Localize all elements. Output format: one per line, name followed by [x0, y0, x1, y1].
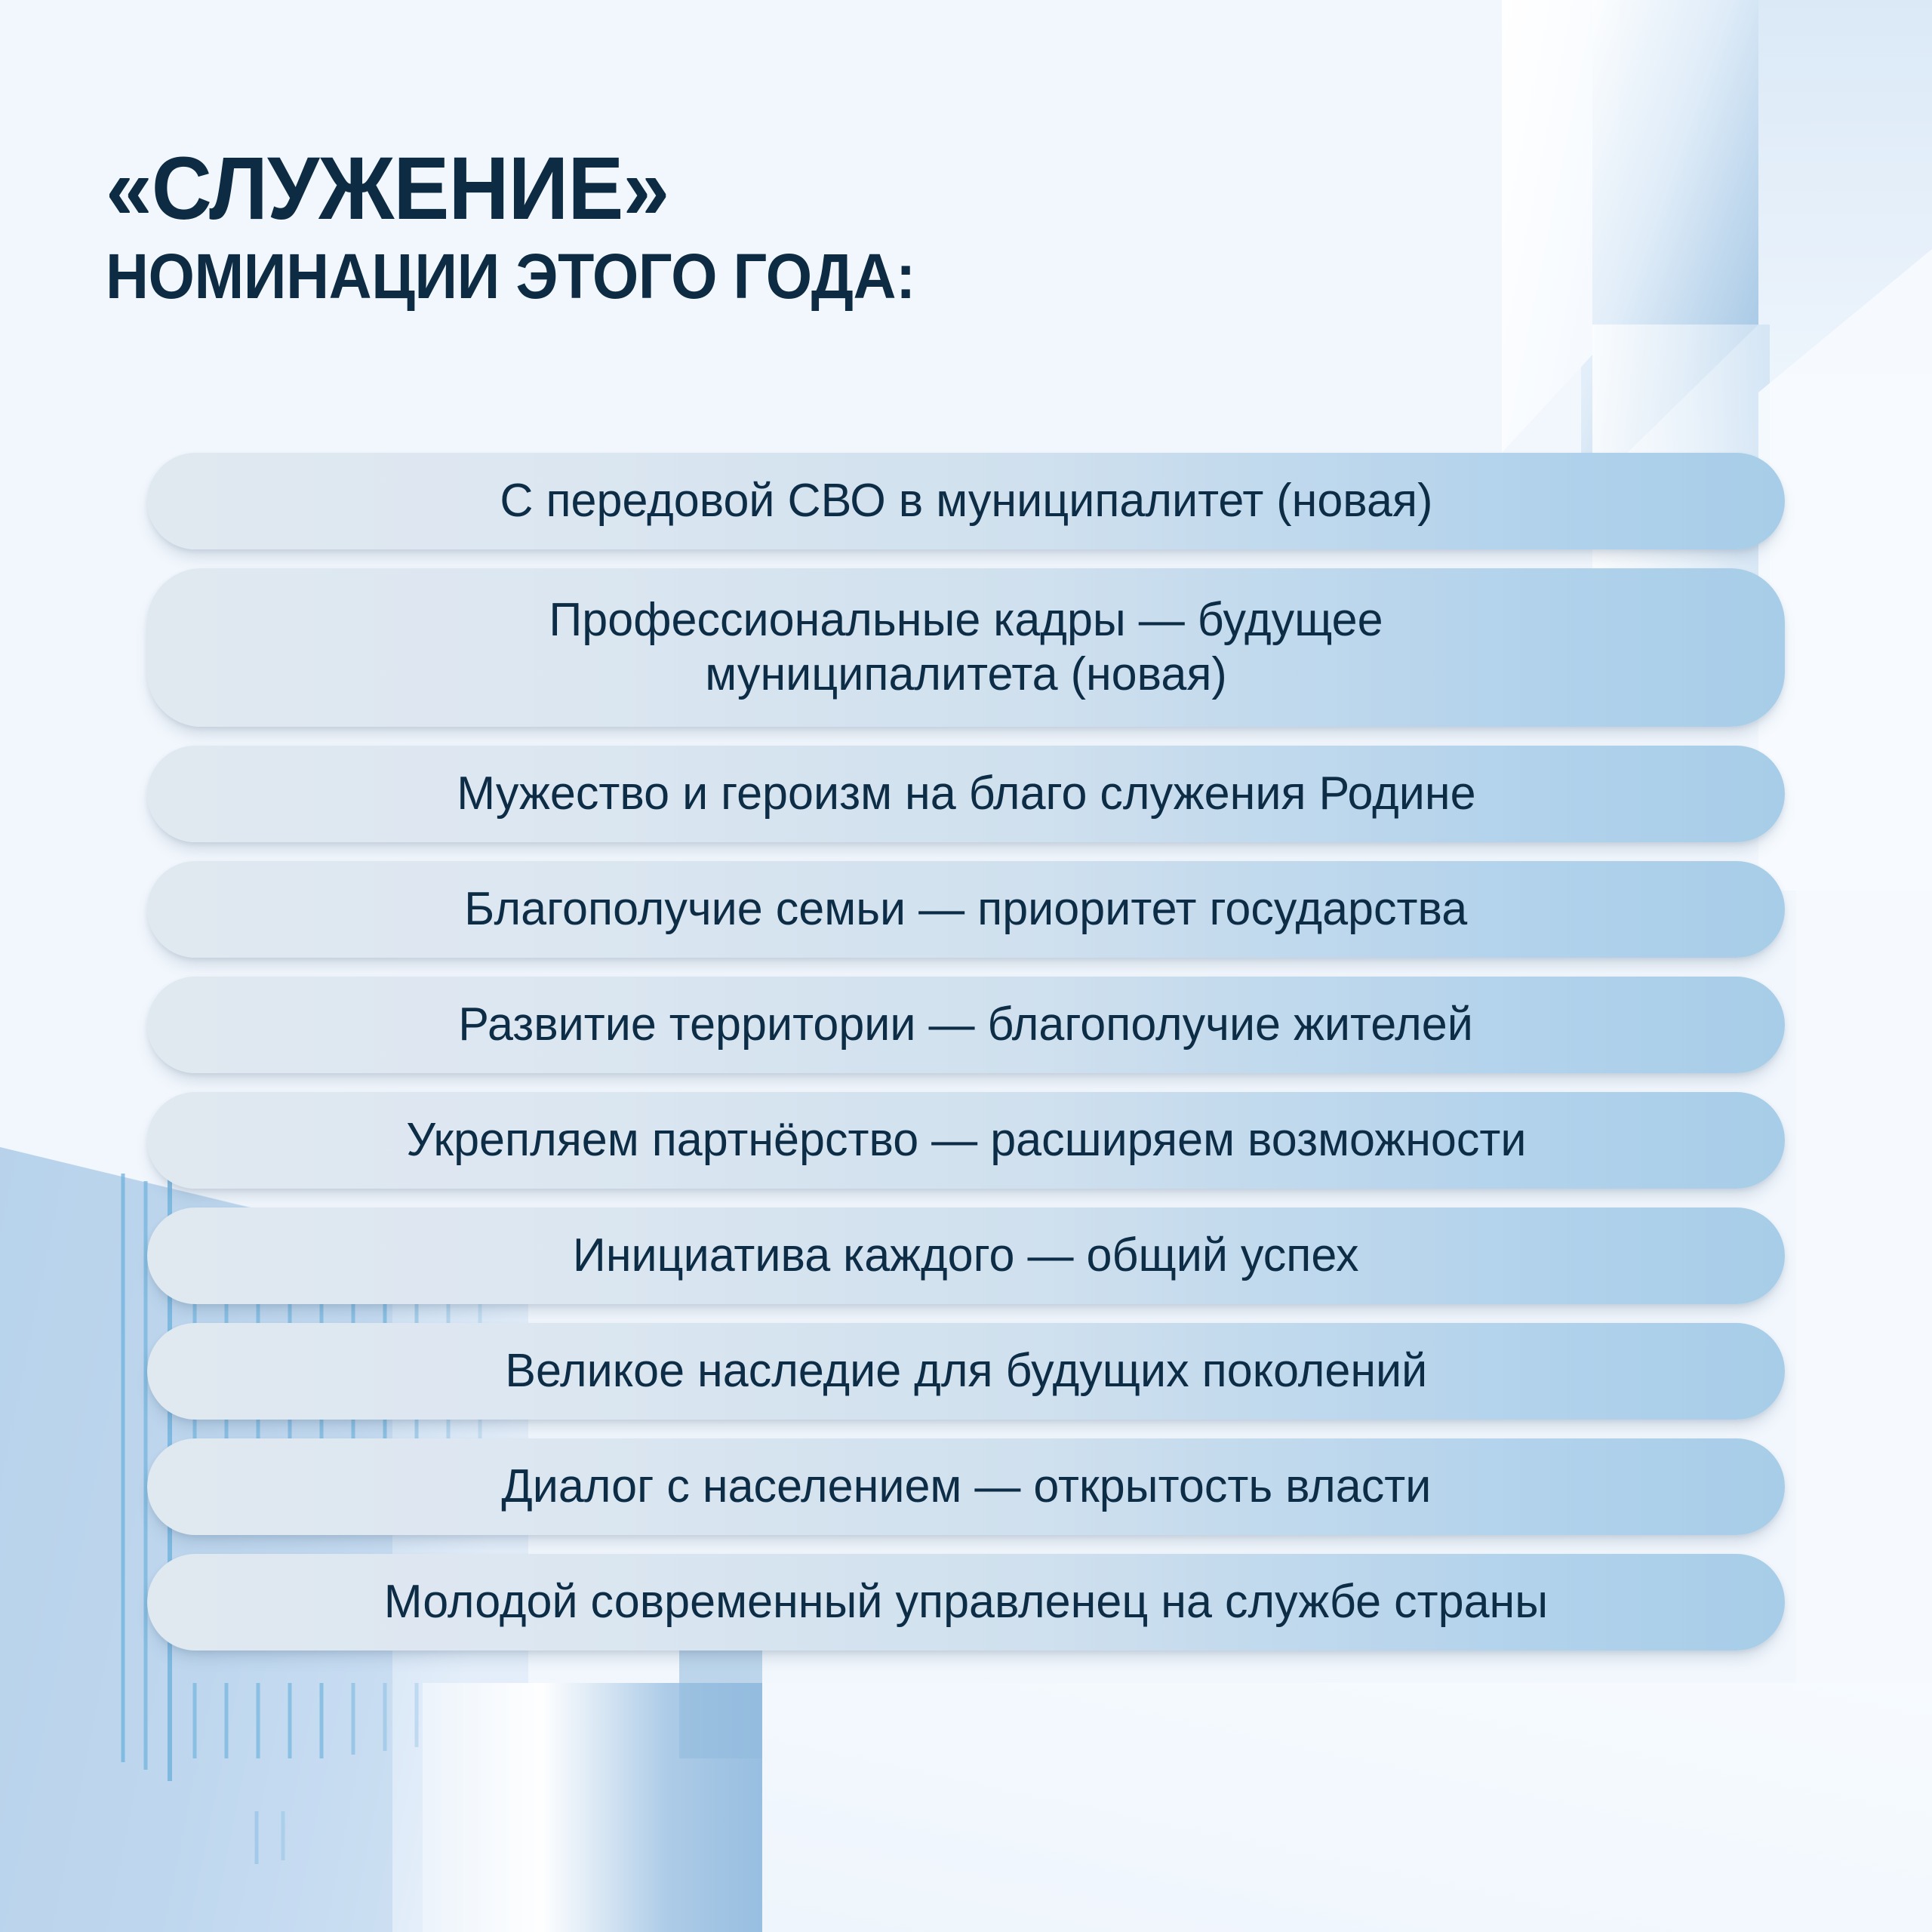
poster-canvas: «СЛУЖЕНИЕ» НОМИНАЦИИ ЭТОГО ГОДА: С перед… [0, 0, 1932, 1932]
nomination-item-4[interactable]: Благополучие семьи — приоритет государст… [147, 861, 1785, 958]
nomination-label: Укрепляем партнёрство — расширяем возмож… [406, 1113, 1526, 1168]
nomination-label: Молодой современный управленец на службе… [384, 1575, 1548, 1629]
nomination-item-8[interactable]: Великое наследие для будущих поколений [147, 1323, 1785, 1420]
nomination-label: Мужество и героизм на благо служения Род… [457, 767, 1475, 821]
poster-header: «СЛУЖЕНИЕ» НОМИНАЦИИ ЭТОГО ГОДА: [106, 143, 967, 309]
nomination-label: Развитие территории — благополучие жител… [459, 998, 1474, 1052]
nomination-item-1[interactable]: С передовой СВО в муниципалитет (новая) [147, 453, 1785, 549]
nomination-label: Благополучие семьи — приоритет государст… [464, 882, 1467, 937]
nomination-label: Великое наследие для будущих поколений [505, 1344, 1427, 1398]
nomination-label: Инициатива каждого — общий успех [573, 1229, 1359, 1283]
nomination-item-5[interactable]: Развитие территории — благополучие жител… [147, 977, 1785, 1073]
nomination-item-6[interactable]: Укрепляем партнёрство — расширяем возмож… [147, 1092, 1785, 1189]
nomination-item-2[interactable]: Профессиональные кадры — будущее муницип… [147, 568, 1785, 727]
page-title: «СЛУЖЕНИЕ» [106, 143, 915, 234]
nomination-label: Профессиональные кадры — будущее муницип… [549, 593, 1383, 702]
page-subtitle: НОМИНАЦИИ ЭТОГО ГОДА: [106, 245, 915, 309]
nomination-label: Диалог с населением — открытость власти [501, 1460, 1431, 1514]
nomination-item-9[interactable]: Диалог с населением — открытость власти [147, 1438, 1785, 1535]
nomination-label: С передовой СВО в муниципалитет (новая) [500, 474, 1432, 528]
nomination-item-10[interactable]: Молодой современный управленец на службе… [147, 1554, 1785, 1651]
nominations-list: С передовой СВО в муниципалитет (новая) … [147, 453, 1785, 1669]
nomination-item-3[interactable]: Мужество и героизм на благо служения Род… [147, 746, 1785, 842]
nomination-item-7[interactable]: Инициатива каждого — общий успех [147, 1207, 1785, 1304]
